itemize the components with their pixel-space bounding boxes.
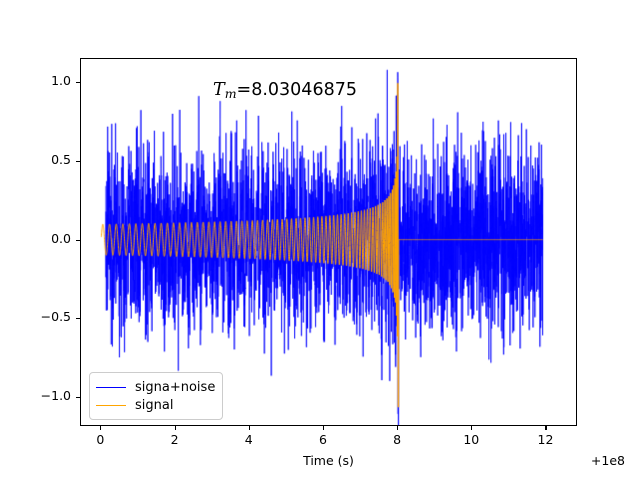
y-tick-mark <box>76 161 80 162</box>
merger-time-annotation: Tm=8.03046875 <box>213 82 357 101</box>
x-tick-label: 2 <box>171 432 179 447</box>
x-tick-label: 0 <box>96 432 104 447</box>
x-axis-label: Time (s) <box>80 453 577 468</box>
x-tick-mark <box>249 426 250 430</box>
x-tick-label: 8 <box>393 432 401 447</box>
x-axis-offset-text: +1e8 <box>591 453 625 468</box>
y-tick-mark <box>76 397 80 398</box>
matplotlib-figure: 024681012 1.00.50.0−0.5−1.0 Time (s) +1e… <box>0 0 640 480</box>
x-tick-label: 12 <box>538 432 554 447</box>
x-tick-label: 10 <box>463 432 479 447</box>
legend-color-swatch-noise <box>96 387 126 388</box>
legend-label-signal: signal <box>135 398 173 413</box>
legend-item-signal[interactable]: signal <box>96 396 215 414</box>
x-tick-mark <box>471 426 472 430</box>
y-tick-mark <box>76 318 80 319</box>
x-tick-label: 4 <box>245 432 253 447</box>
x-tick-label: 6 <box>319 432 327 447</box>
y-tick-mark <box>76 240 80 241</box>
legend-box[interactable]: signa+noise signal <box>89 372 223 420</box>
legend-color-swatch-signal <box>96 405 126 406</box>
annotation-variable: T <box>213 80 225 100</box>
x-tick-mark <box>545 426 546 430</box>
y-tick-mark <box>76 82 80 83</box>
x-tick-mark <box>175 426 176 430</box>
x-tick-mark <box>323 426 324 430</box>
signal-plot-canvas <box>81 59 576 425</box>
legend-item-signa-noise[interactable]: signa+noise <box>96 378 215 396</box>
annotation-value: =8.03046875 <box>237 80 357 100</box>
x-tick-mark <box>100 426 101 430</box>
x-tick-mark <box>397 426 398 430</box>
annotation-subscript: m <box>225 86 237 101</box>
legend-label-noise: signa+noise <box>135 380 215 395</box>
plot-axes <box>80 58 577 426</box>
